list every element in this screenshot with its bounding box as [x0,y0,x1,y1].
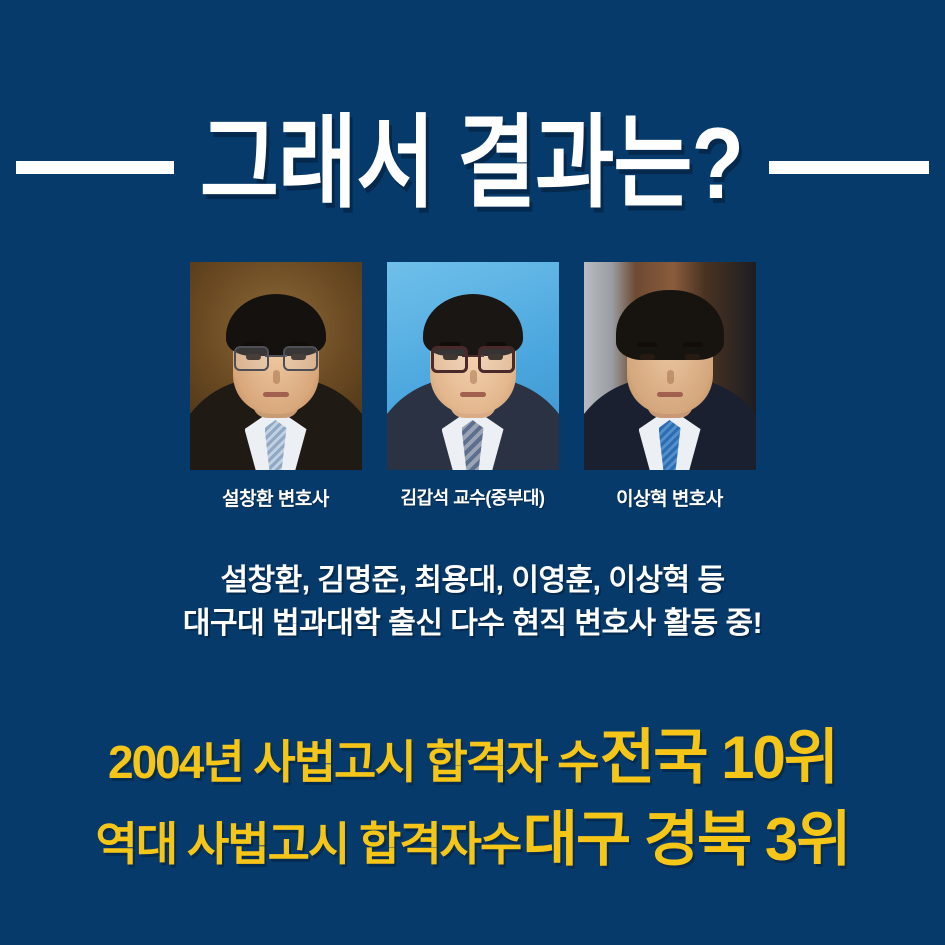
glasses-lens-left [234,346,269,371]
headline-row-2: 역대 사법고시 합격자수 대구 경북 3위 [0,808,945,872]
portrait-nose [667,370,674,384]
title-dash-left [16,161,174,174]
person-caption: 김갑석 교수(중부대) [387,484,559,510]
portrait-brow-right [683,342,703,347]
portrait-nose [273,370,280,384]
person-card: 설창환 변호사 [190,262,362,511]
title-row: 그래서 결과는? [0,104,945,224]
portrait-mouth [657,392,683,397]
title-dash-right [769,161,929,174]
portrait-photo-2 [387,262,559,470]
glasses-icon [431,346,515,368]
portrait-brow-left [637,342,657,347]
portrait-photo-1 [190,262,362,470]
glasses-lens-right [283,346,318,371]
promo-card: 그래서 결과는? [0,0,945,945]
portrait-nose [470,370,477,384]
person-caption: 이상혁 변호사 [584,484,756,511]
headline-1-emphasis: 전국 10위 [600,724,837,791]
headline-2-lead: 역대 사법고시 합격자수 [96,818,521,870]
portrait-mouth [460,392,486,397]
headline-group: 2004년 사법고시 합격자 수 전국 10위 역대 사법고시 합격자수 대구 … [0,726,945,871]
body-line-1: 설창환, 김명준, 최용대, 이영훈, 이상혁 등 [0,560,945,603]
headline-1-lead: 2004년 사법고시 합격자 수 [108,736,598,788]
body-paragraph: 설창환, 김명준, 최용대, 이영훈, 이상혁 등 대구대 법과대학 출신 다수… [0,560,945,645]
glasses-lens-right [478,346,515,373]
page-title: 그래서 결과는? [200,113,743,214]
headline-row-1: 2004년 사법고시 합격자 수 전국 10위 [0,726,945,790]
body-line-2: 대구대 법과대학 출신 다수 현직 변호사 활동 중! [0,603,945,646]
portrait-eye-left [640,354,655,360]
person-card: 김갑석 교수(중부대) [387,262,559,511]
person-caption: 설창환 변호사 [190,484,362,511]
headline-2-emphasis: 대구 경북 3위 [523,806,850,873]
glasses-lens-left [431,346,468,373]
portrait-photo-3 [584,262,756,470]
portrait-eye-right [685,354,700,360]
person-card: 이상혁 변호사 [584,262,756,511]
portrait-mouth [263,392,289,397]
photo-strip: 설창환 변호사 [0,262,945,511]
glasses-icon [234,346,318,368]
